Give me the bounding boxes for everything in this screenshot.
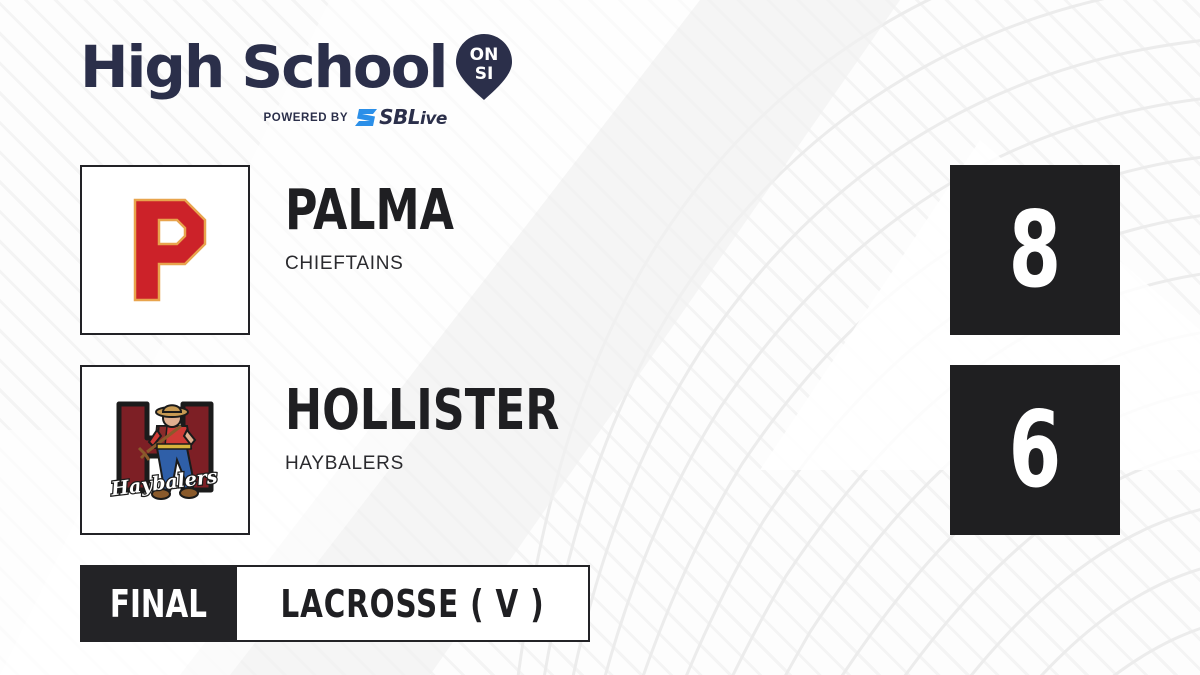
on-si-pin-icon: ON SI	[456, 34, 512, 100]
sport-label-box: LACROSSE ( V )	[237, 565, 590, 642]
status-badge-label: FINAL	[110, 582, 207, 626]
score-value: 6	[1009, 398, 1062, 503]
pin-bottom-text: SI	[475, 64, 494, 84]
pin-top-text: ON	[470, 45, 499, 65]
game-status-bar: FINAL LACROSSE ( V )	[80, 565, 590, 642]
status-badge: FINAL	[80, 565, 237, 642]
sblive-wordmark: SBLive	[379, 107, 447, 128]
hollister-haybalers-logo-icon: Haybalers	[101, 386, 229, 514]
brand-title: High School	[80, 38, 446, 96]
team-mascot: HAYBALERS	[285, 453, 597, 475]
sblive-logo: SBLive	[355, 107, 447, 128]
score-value: 8	[1009, 198, 1062, 303]
sblive-main: SBL	[379, 105, 420, 129]
site-brand-logo: High School ON SI POWERED BY SBLive	[80, 34, 512, 128]
team-info-palma: PALMA CHIEFTAINS	[285, 183, 477, 275]
palma-p-logo-icon	[101, 186, 229, 314]
team-name: PALMA	[285, 183, 454, 239]
score-box-away: 8	[950, 165, 1120, 335]
powered-by-label: POWERED BY	[264, 112, 349, 124]
team-info-hollister: HOLLISTER HAYBALERS	[285, 383, 597, 475]
team-name: HOLLISTER	[285, 383, 559, 439]
score-box-home: 6	[950, 365, 1120, 535]
sport-label: LACROSSE ( V )	[280, 582, 544, 626]
sblive-lightning-icon	[355, 109, 377, 126]
sblive-suffix: ive	[420, 109, 447, 129]
team-logo-palma	[80, 165, 250, 335]
team-logo-hollister: Haybalers	[80, 365, 250, 535]
team-mascot: CHIEFTAINS	[285, 253, 477, 275]
